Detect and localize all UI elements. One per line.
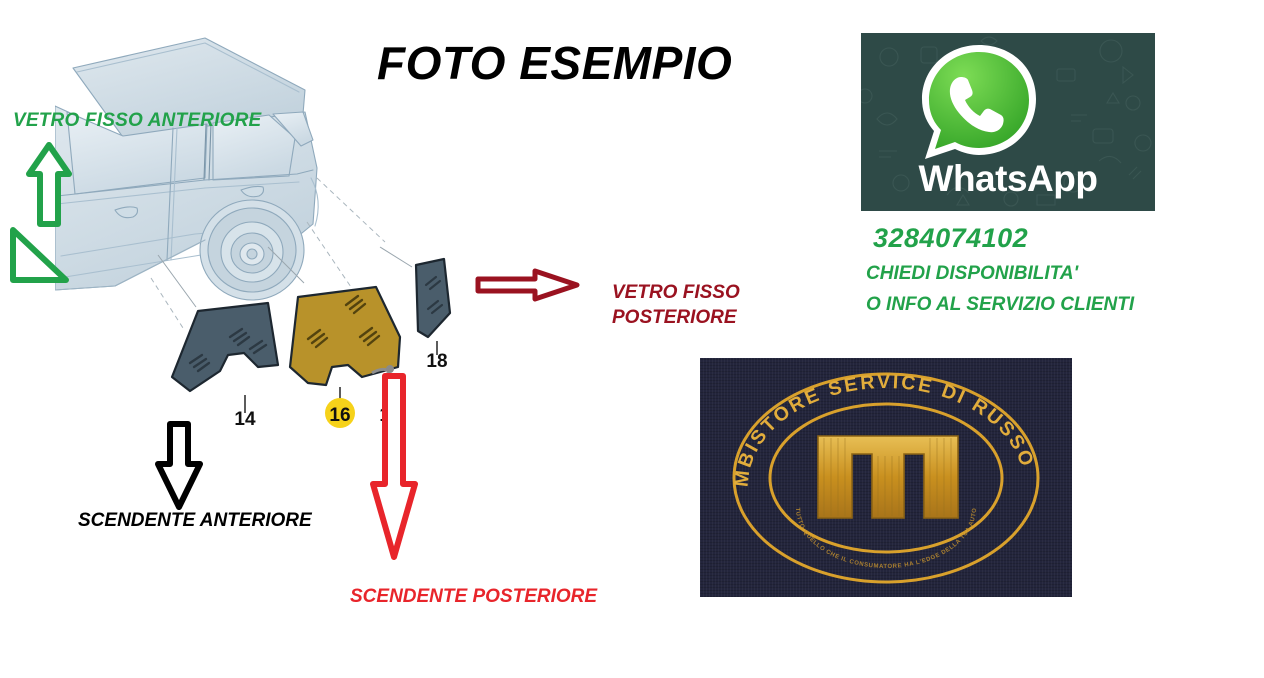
whatsapp-phone-bubble-icon — [913, 41, 1043, 166]
label-scendente-anteriore: SCENDENTE ANTERIORE — [78, 510, 312, 532]
up-arrow-icon — [26, 142, 72, 227]
label-vetro-fisso-posteriore-line2: POSTERIORE — [612, 305, 740, 330]
company-logo-photo: MRICAMBISTORE SERVICE DI RUSSO MARCO TUT… — [700, 358, 1072, 597]
stamp-monogram — [818, 436, 958, 518]
label-vetro-fisso-posteriore-line1: VETRO FISSO — [612, 280, 740, 305]
label-scendente-posteriore: SCENDENTE POSTERIORE — [350, 586, 597, 608]
down-arrow-icon — [155, 420, 203, 510]
exploded-glass-parts: 14 16 17 18 — [150, 245, 480, 435]
triangle-icon — [8, 225, 70, 285]
right-arrow-icon — [475, 268, 580, 302]
svg-text:14: 14 — [234, 409, 256, 430]
stamp-outer-text: MRICAMBISTORE SERVICE DI RUSSO MARCO — [700, 358, 1040, 488]
whatsapp-banner[interactable]: WhatsApp — [861, 33, 1155, 211]
whatsapp-phone-number[interactable]: 3284074102 — [873, 223, 1028, 254]
whatsapp-wordmark: WhatsApp — [861, 158, 1155, 200]
label-vetro-fisso-posteriore: VETRO FISSO POSTERIORE — [612, 280, 740, 330]
contact-line-1: CHIEDI DISPONIBILITA' — [866, 263, 1078, 285]
svg-text:18: 18 — [426, 351, 447, 372]
label-vetro-fisso-anteriore: VETRO FISSO ANTERIORE — [13, 110, 261, 132]
down-arrow-long-icon — [370, 372, 418, 560]
contact-line-2: O INFO AL SERVIZIO CLIENTI — [866, 294, 1134, 316]
svg-text:MRICAMBISTORE SERVICE DI RUSSO: MRICAMBISTORE SERVICE DI RUSSO MARCO — [700, 358, 1040, 488]
company-logo-mark: MRICAMBISTORE SERVICE DI RUSSO MARCO TUT… — [700, 358, 1072, 597]
page-title: FOTO ESEMPIO — [377, 36, 732, 90]
svg-text:16: 16 — [329, 405, 350, 426]
